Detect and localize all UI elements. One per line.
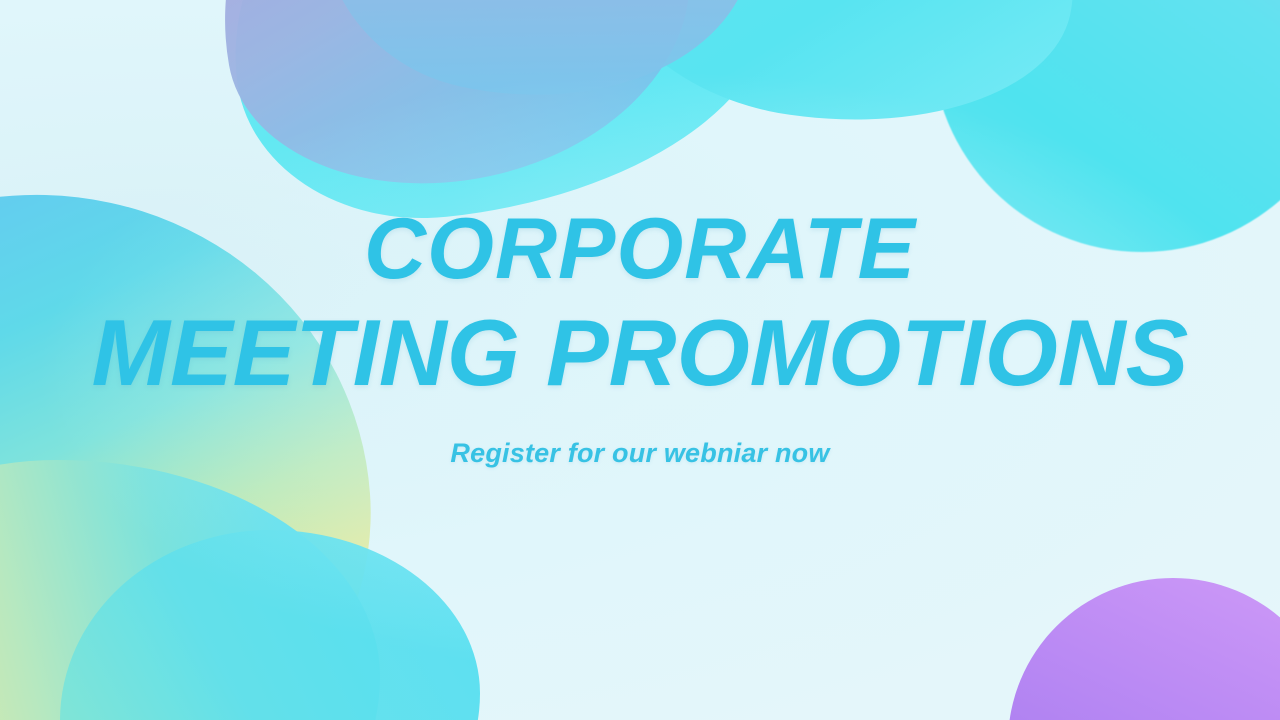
poster-content: CORPORATE MEETING PROMOTIONS Register fo… [0,0,1280,720]
headline-line-2: MEETING PROMOTIONS [92,306,1189,400]
headline-line-1: CORPORATE [92,206,1189,292]
page-title: CORPORATE MEETING PROMOTIONS [92,206,1189,400]
promo-poster: CORPORATE MEETING PROMOTIONS Register fo… [0,0,1280,720]
subtitle-text: Register for our webniar now [450,438,829,469]
